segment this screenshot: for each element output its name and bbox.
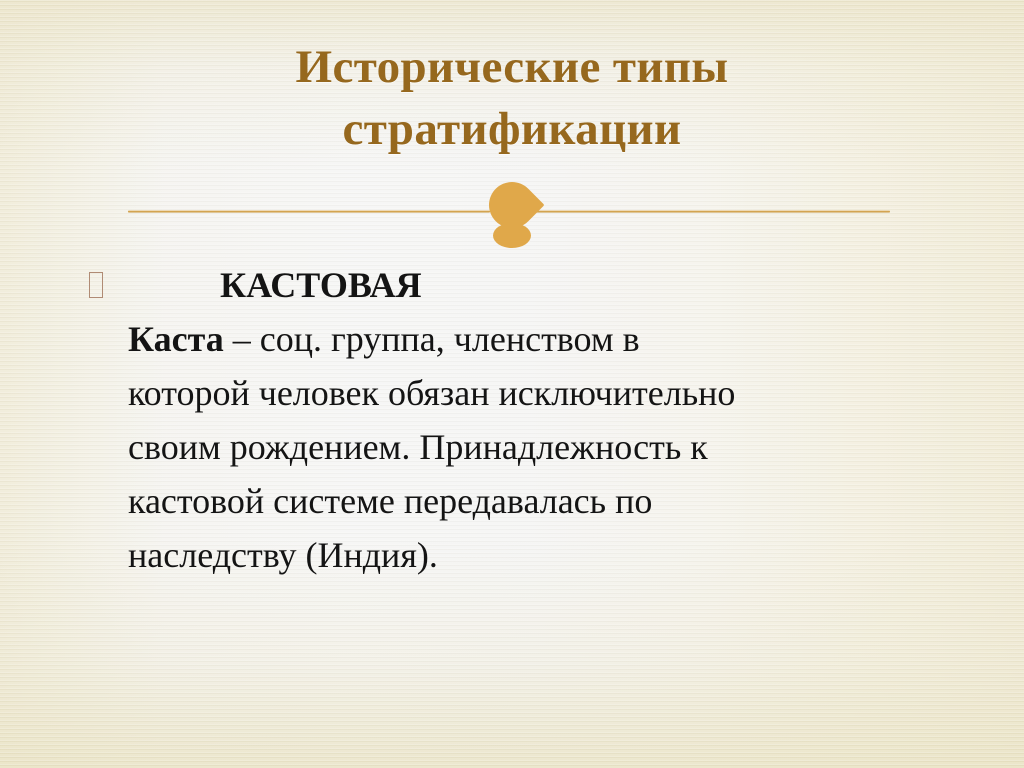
body-line-5: наследству (Индия). [128, 528, 918, 582]
teardrop-dot-icon [493, 223, 531, 248]
slide-title: Исторические типы стратификации [120, 36, 904, 160]
body-line-1: Каста – соц. группа, членством в [128, 312, 918, 366]
body-line-2: которой человек обязан исключительно [128, 366, 918, 420]
decorative-divider [0, 168, 1024, 240]
body-line-4: кастовой системе передавалась по [128, 474, 918, 528]
slide-title-line-1: Исторические типы [120, 36, 904, 98]
presentation-slide: Исторические типы стратификации КАСТОВАЯ… [0, 0, 1024, 768]
slide-title-line-2: стратификации [120, 98, 904, 160]
body-line-1-rest: – соц. группа, членством в [224, 319, 640, 359]
body-heading: КАСТОВАЯ [128, 258, 918, 312]
divider-rule-left [128, 210, 490, 213]
bullet-glyph-icon [89, 272, 103, 298]
body-text-block: КАСТОВАЯ Каста – соц. группа, членством … [128, 258, 918, 582]
divider-rule-right [535, 210, 890, 213]
body-line-3: своим рождением. Принадлежность к [128, 420, 918, 474]
slide-body: КАСТОВАЯ Каста – соц. группа, членством … [0, 258, 1024, 598]
body-term: Каста [128, 319, 224, 359]
